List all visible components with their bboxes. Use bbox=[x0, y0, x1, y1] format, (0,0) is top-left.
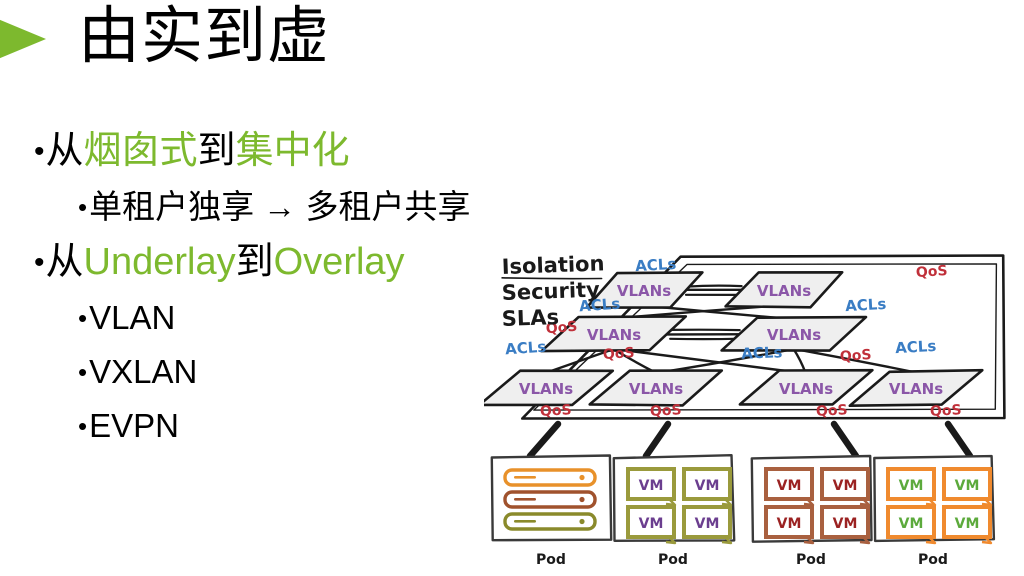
acl-label: ACLs bbox=[845, 295, 887, 315]
vm-label: VM bbox=[955, 478, 980, 494]
bullet-dot-icon: • bbox=[34, 125, 45, 179]
vlan-node-label: VLANs bbox=[779, 380, 833, 398]
bullet-text-segment: Overlay bbox=[274, 241, 405, 283]
pod: VMVMVMVMPod bbox=[752, 456, 872, 568]
bullet-item-l2: •VLAN bbox=[34, 292, 504, 346]
bullet-text: EVPN bbox=[89, 400, 179, 452]
bullet-item-l2: •单租户独享 → 多租户共享 bbox=[34, 181, 504, 235]
pod-connector-leg bbox=[834, 424, 856, 456]
vm-label: VM bbox=[777, 516, 802, 532]
page-title: 由实到虚 bbox=[78, 0, 330, 78]
bullet-text-segment: 集中化 bbox=[236, 130, 350, 172]
slide-header: 由实到虚 bbox=[0, 0, 1024, 100]
vlan-node-label: VLANs bbox=[519, 380, 573, 398]
vm-label: VM bbox=[899, 478, 924, 494]
vm-label: VM bbox=[833, 516, 858, 532]
bullet-text-segment: VXLAN bbox=[89, 353, 197, 390]
bullet-text-segment: 从 bbox=[46, 130, 84, 172]
pod-label: Pod bbox=[918, 552, 948, 568]
caption-line: Isolation bbox=[501, 251, 605, 279]
bullet-text-segment: 烟囱式 bbox=[84, 130, 198, 172]
acl-label: ACLs bbox=[741, 343, 783, 362]
server-led-icon bbox=[579, 497, 584, 502]
vm-label: VM bbox=[695, 478, 720, 494]
pod: VMVMVMVMPod bbox=[614, 455, 734, 568]
qos-label: QoS bbox=[839, 347, 872, 365]
caption-line: Security bbox=[501, 278, 600, 305]
bullet-text-segment: 到 bbox=[236, 241, 274, 283]
pod-label: Pod bbox=[536, 552, 566, 568]
vlan-node-label: VLANs bbox=[629, 380, 683, 398]
bullet-dot-icon: • bbox=[34, 236, 45, 290]
bullet-text: VLAN bbox=[89, 292, 175, 344]
qos-label: QoS bbox=[602, 345, 635, 363]
bullet-text-segment: 到 bbox=[198, 130, 236, 172]
server-led-icon bbox=[579, 519, 584, 524]
acl-label: ACLs bbox=[635, 255, 677, 275]
qos-label: QoS bbox=[915, 263, 948, 281]
vm-label: VM bbox=[777, 478, 802, 494]
server-led-icon bbox=[579, 475, 584, 480]
bullet-dot-icon: • bbox=[78, 181, 87, 233]
bullet-item-l1: •从烟囱式到集中化 bbox=[34, 124, 504, 181]
pod-connector-leg bbox=[948, 424, 970, 456]
acl-label: ACLs bbox=[505, 338, 547, 359]
server-slot-icon bbox=[514, 498, 536, 501]
caption-line: SLAs bbox=[501, 305, 559, 331]
green-triangle-bullet-icon bbox=[0, 14, 46, 64]
vlan-node-label: VLANs bbox=[587, 326, 641, 344]
server-slot-icon bbox=[514, 476, 536, 479]
bullet-text-segment: 从 bbox=[46, 241, 84, 283]
bullet-dot-icon: • bbox=[78, 292, 87, 344]
pod-connector-leg bbox=[646, 424, 668, 456]
pod-connector-leg bbox=[530, 424, 558, 456]
qos-label: QoS bbox=[650, 402, 682, 420]
pod-label: Pod bbox=[658, 552, 688, 568]
bullet-text-segment: EVPN bbox=[89, 407, 179, 444]
bullet-dot-icon: • bbox=[78, 346, 87, 398]
pod: VMVMVMVMPod bbox=[874, 456, 994, 568]
overlay-architecture-diagram: VLANsVLANsVLANsVLANsVLANsVLANsVLANsVLANs… bbox=[484, 248, 1024, 576]
bullet-list: •从烟囱式到集中化•单租户独享 → 多租户共享•从Underlay到Overla… bbox=[34, 124, 504, 454]
pod: Pod bbox=[492, 456, 611, 569]
pod-connectors bbox=[530, 424, 970, 456]
bullet-text: 从烟囱式到集中化 bbox=[46, 124, 350, 178]
vlan-node-label: VLANs bbox=[757, 282, 811, 300]
vlan-node-label: VLANs bbox=[767, 326, 821, 344]
bullet-dot-icon: • bbox=[78, 400, 87, 452]
vlan-node-label: VLANs bbox=[617, 282, 671, 300]
vlan-node-label: VLANs bbox=[889, 380, 943, 398]
acl-label: ACLs bbox=[895, 337, 937, 357]
bullet-text-segment: VLAN bbox=[89, 299, 175, 336]
server-slot-icon bbox=[514, 520, 536, 523]
bullet-item-l1: •从Underlay到Overlay bbox=[34, 235, 504, 292]
vm-label: VM bbox=[899, 516, 924, 532]
qos-label: QoS bbox=[816, 402, 848, 420]
vm-label: VM bbox=[639, 478, 664, 494]
bullet-text-segment: Underlay bbox=[84, 241, 236, 283]
connection-line bbox=[686, 286, 741, 287]
bullet-item-l2: •EVPN bbox=[34, 400, 504, 454]
bullet-text: 单租户独享 → 多租户共享 bbox=[89, 181, 470, 233]
qos-label: QoS bbox=[540, 402, 572, 420]
diagram-canvas: VLANsVLANsVLANsVLANsVLANsVLANsVLANsVLANs… bbox=[484, 248, 1024, 576]
vm-label: VM bbox=[955, 516, 980, 532]
caption-underline bbox=[502, 278, 601, 279]
vm-label: VM bbox=[833, 478, 858, 494]
bullet-text: 从Underlay到Overlay bbox=[46, 235, 405, 289]
pod-row: PodVMVMVMVMPodVMVMVMVMPodVMVMVMVMPod bbox=[492, 455, 994, 568]
qos-label: QoS bbox=[930, 402, 962, 420]
bullet-item-l2: •VXLAN bbox=[34, 346, 504, 400]
vm-label: VM bbox=[639, 516, 664, 532]
bullet-text: VXLAN bbox=[89, 346, 197, 398]
vm-label: VM bbox=[695, 516, 720, 532]
bullet-text-segment: 单租户独享 → 多租户共享 bbox=[89, 188, 470, 225]
pod-label: Pod bbox=[796, 552, 826, 568]
